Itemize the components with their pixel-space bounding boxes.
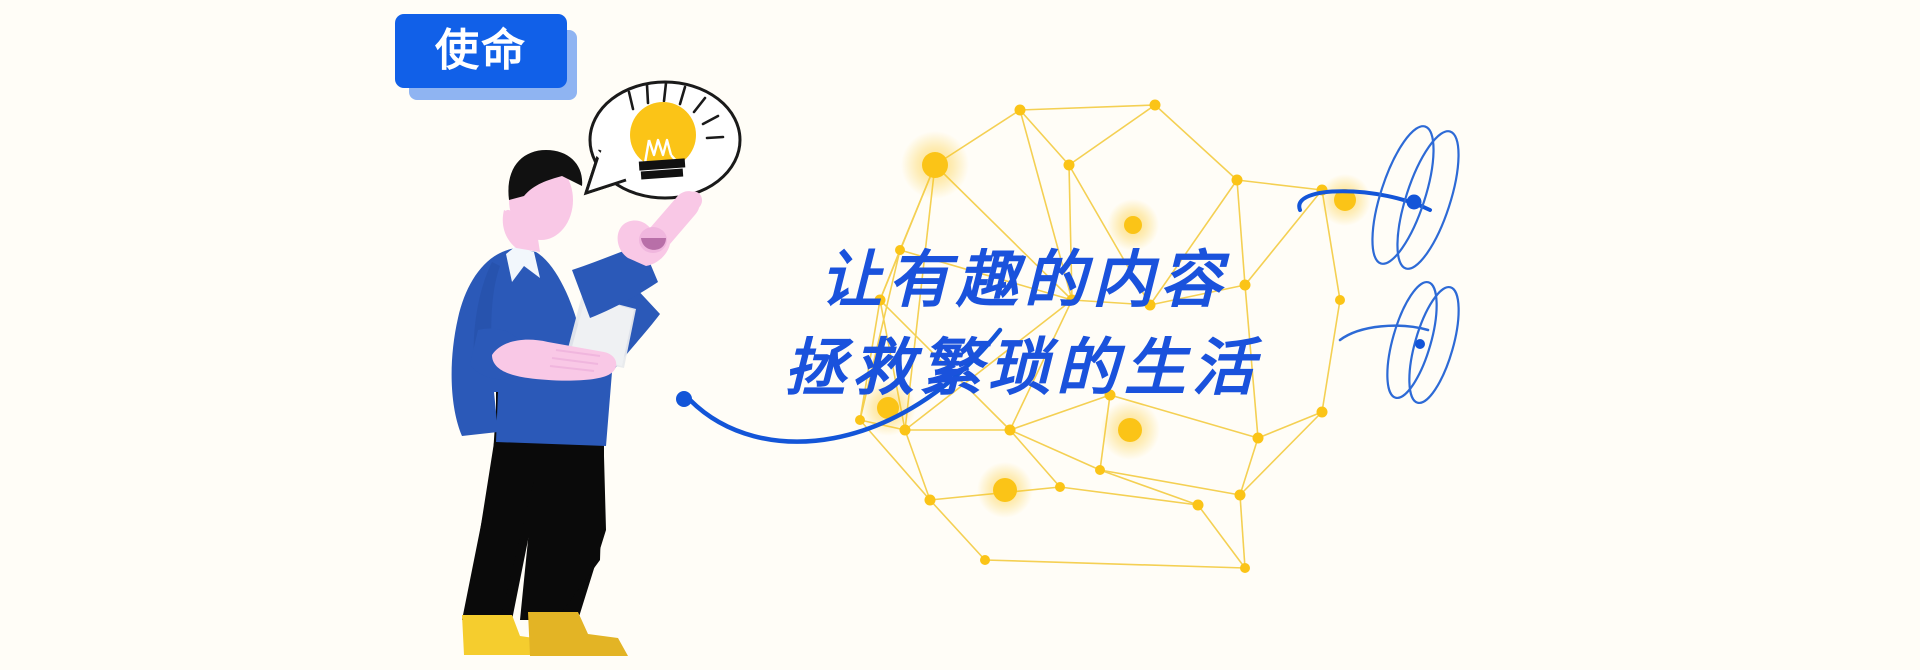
- mission-badge: 使命: [395, 14, 580, 102]
- lightbulb-base: [639, 158, 686, 179]
- character-head: [503, 150, 582, 252]
- idea-bubble: [586, 82, 740, 198]
- headline-line-1: 让有趣的内容: [820, 236, 1440, 324]
- character-shoes: [462, 612, 628, 656]
- badge-label: 使命: [435, 29, 527, 73]
- headline-line-2: 拯救繁琐的生活: [784, 324, 1440, 412]
- badge-plate: 使命: [395, 14, 567, 88]
- headline: 让有趣的内容 拯救繁琐的生活: [820, 236, 1440, 412]
- mission-banner: 让有趣的内容 拯救繁琐的生活 使命: [0, 0, 1920, 670]
